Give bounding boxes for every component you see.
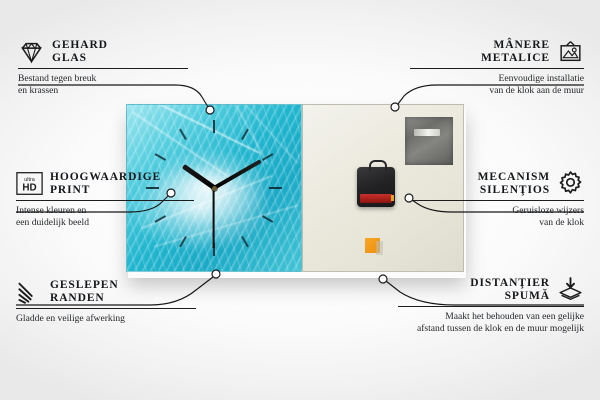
feature-title: GESLEPEN RANDEN <box>50 279 119 305</box>
foam-spacer <box>365 238 380 253</box>
feature-divider <box>398 306 584 307</box>
feature-geslepen-randen: GESLEPEN RANDEN Gladde en veilige afwerk… <box>16 278 196 325</box>
feature-title: HOOGWAARDIGE PRINT <box>50 171 161 197</box>
feature-title: MÂNERE METALICE <box>481 39 550 65</box>
feature-description: Geruisloze wijzers van de klok <box>412 205 584 228</box>
feature-description: Intense kleuren en een duidelijk beeld <box>16 205 194 228</box>
feature-header: GESLEPEN RANDEN <box>16 278 196 305</box>
feature-header: MÂNERE METALICE <box>410 38 584 65</box>
feature-mecanism-silentios: MECANISM SILENŢIOS Geruisloze wijzers va… <box>412 170 584 228</box>
feature-description: Gladde en veilige afwerking <box>16 313 196 325</box>
feature-description: Bestand tegen breuk en krassen <box>18 73 188 96</box>
feature-header: GEHARD GLAS <box>18 38 188 65</box>
clock-movement <box>357 167 395 207</box>
feature-header: DISTANŢIER SPUMĂ <box>398 276 584 303</box>
feature-description: Eenvoudige installatie van de klok aan d… <box>410 73 584 96</box>
feature-divider <box>18 68 188 69</box>
feature-header: MECANISM SILENŢIOS <box>412 170 584 197</box>
feature-header: ultra HD HOOGWAARDIGE PRINT <box>16 170 194 197</box>
feature-title: GEHARD GLAS <box>52 39 108 65</box>
feature-description: Maakt het behouden van een gelijke afsta… <box>398 311 584 334</box>
feature-title: DISTANŢIER SPUMĂ <box>470 277 550 303</box>
foam-spacer-icon <box>557 276 584 303</box>
feature-distantier-spuma: DISTANŢIER SPUMĂ Maakt het behouden van … <box>398 276 584 334</box>
gear-icon <box>557 170 584 197</box>
movement-hanger <box>369 160 387 171</box>
beveled-edges-icon <box>16 278 43 305</box>
feature-gehard-glas: GEHARD GLAS Bestand tegen breuk en krass… <box>18 38 188 96</box>
metal-plate <box>405 117 453 165</box>
clock-second-hand <box>213 188 215 248</box>
feature-hoogwaardige-print: ultra HD HOOGWAARDIGE PRINT Intense kleu… <box>16 170 194 228</box>
infographic-canvas: GEHARD GLAS Bestand tegen breuk en krass… <box>0 0 600 400</box>
feature-manere-metalice: MÂNERE METALICE Eenvoudige installatie v… <box>410 38 584 96</box>
svg-text:HD: HD <box>22 183 36 194</box>
feature-divider <box>412 200 584 201</box>
feature-divider <box>16 308 196 309</box>
ultra-hd-icon: ultra HD <box>16 170 43 197</box>
battery <box>360 194 392 203</box>
feature-divider <box>16 200 194 201</box>
feature-divider <box>410 68 584 69</box>
feature-title: MECANISM SILENŢIOS <box>478 171 550 197</box>
diamond-icon <box>18 38 45 65</box>
clock-center-cap <box>212 186 217 191</box>
wall-hanging-picture-icon <box>557 38 584 65</box>
